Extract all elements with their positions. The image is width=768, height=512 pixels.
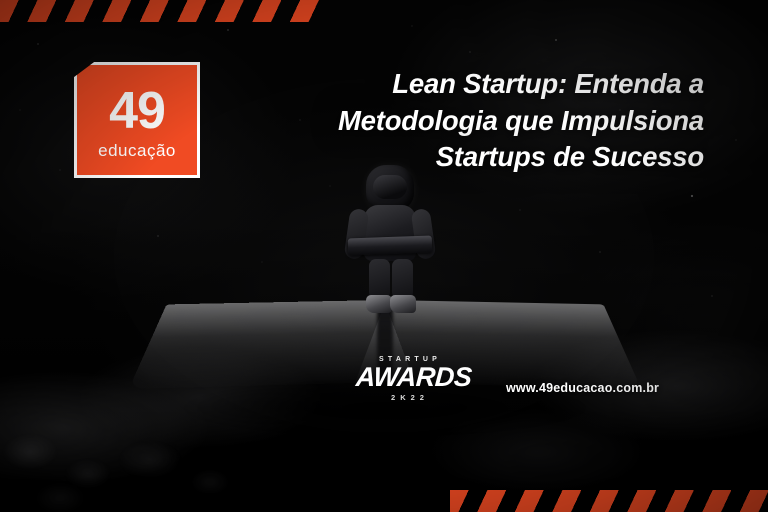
awards-badge-main-text: AWARDS (355, 364, 465, 391)
astronaut-visor (373, 175, 407, 199)
astronaut-leg-right (392, 259, 413, 299)
astronaut-leg-left (369, 259, 390, 299)
title-line-1: Lean Startup: Entenda a (234, 66, 704, 103)
brand-logo: 49 educação (74, 62, 200, 178)
hazard-stripes-top (0, 0, 320, 22)
page-title: Lean Startup: Entenda a Metodologia que … (234, 66, 704, 176)
banner-canvas: 49 educação Lean Startup: Entenda a Meto… (0, 0, 768, 512)
astronaut-boot-right (390, 295, 416, 313)
logo-word: educação (98, 142, 176, 159)
astronaut-tablet (348, 236, 433, 256)
title-line-2: Metodologia que Impulsiona (234, 103, 704, 140)
awards-badge-year: 2K22 (356, 393, 464, 402)
site-url[interactable]: www.49educacao.com.br (506, 381, 659, 395)
astronaut-boot-left (366, 295, 392, 313)
astronaut-figure (336, 165, 444, 320)
startup-awards-badge: STARTUP AWARDS 2K22 (356, 356, 464, 402)
hazard-stripes-bottom (450, 490, 768, 512)
title-line-3: Startups de Sucesso (234, 139, 704, 176)
logo-number: 49 (109, 85, 165, 137)
